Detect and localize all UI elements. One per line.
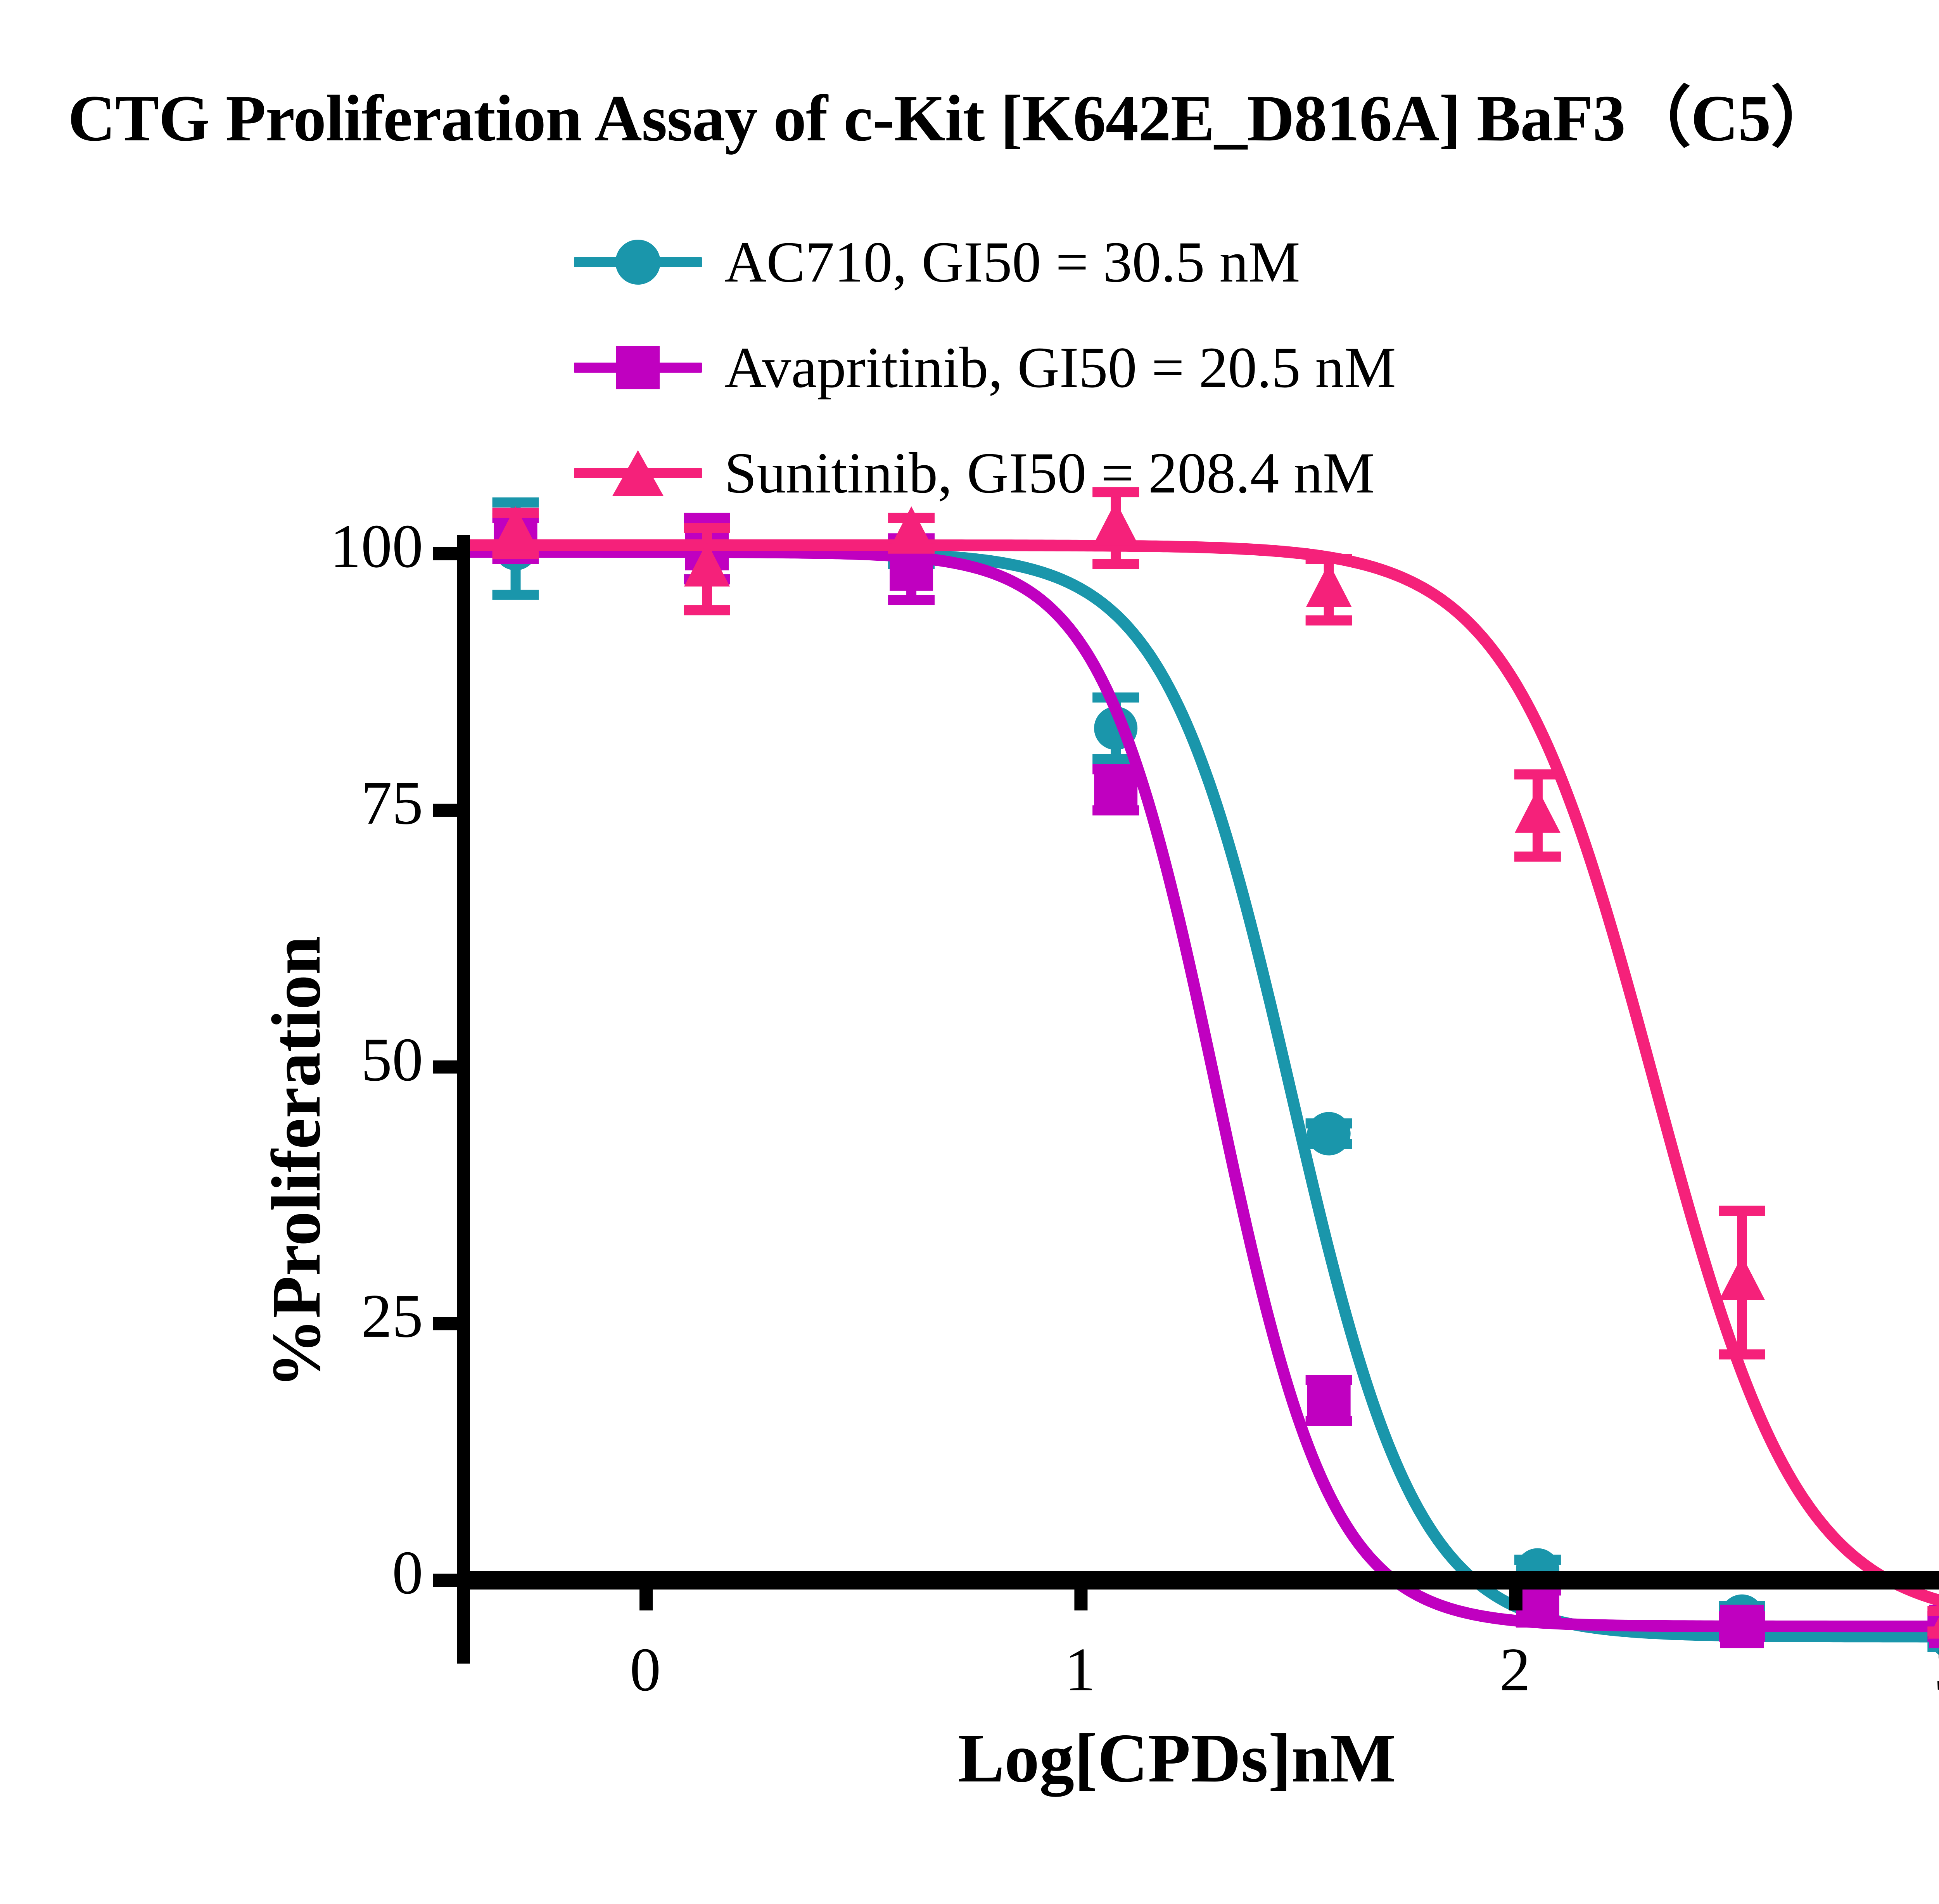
series-ac710: [463, 503, 1939, 1659]
data-point-square: [1094, 768, 1137, 812]
data-point-triangle: [1306, 563, 1352, 607]
series-sunitinib: [463, 492, 1939, 1639]
y-tick-label: 0: [392, 1537, 423, 1609]
fit-curve: [463, 552, 1939, 1637]
axes: [433, 535, 1939, 1664]
data-point-triangle: [1093, 501, 1139, 545]
fit-curve: [463, 545, 1939, 1610]
y-tick-label: 50: [361, 1024, 423, 1095]
y-tick-label: 25: [361, 1280, 423, 1352]
y-axis-title: %Proliferation: [256, 936, 336, 1388]
x-tick-label: 0: [630, 1634, 661, 1705]
y-tick-label: 75: [361, 767, 423, 839]
data-point-triangle: [1515, 789, 1561, 833]
data-point-triangle: [1719, 1256, 1765, 1300]
x-axis-title: Log[CPDs]nM: [958, 1718, 1396, 1798]
x-tick-label: 3: [1934, 1634, 1939, 1705]
x-tick-label: 2: [1500, 1634, 1531, 1705]
data-point-square: [890, 548, 933, 591]
data-point-square: [1720, 1605, 1764, 1648]
data-point-square: [1307, 1379, 1351, 1422]
x-tick-label: 1: [1065, 1634, 1096, 1705]
series-avapritinib: [463, 517, 1939, 1648]
chart-page: CTG Proliferation Assay of c-Kit [K642E_…: [0, 0, 1939, 1904]
y-tick-label: 100: [330, 510, 423, 582]
fit-curve: [463, 552, 1939, 1627]
data-point-circle: [1307, 1112, 1351, 1156]
